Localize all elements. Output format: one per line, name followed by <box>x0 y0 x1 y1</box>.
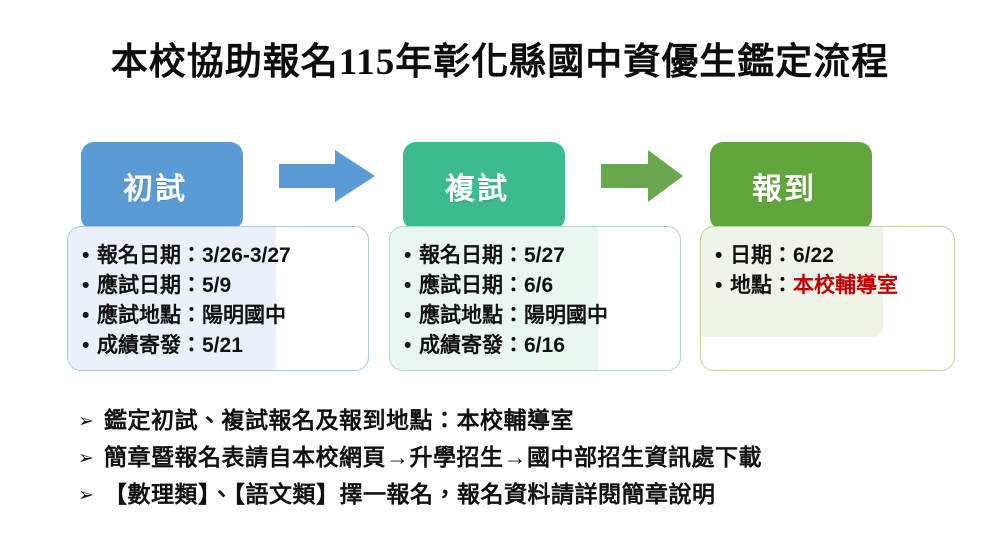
bullet-dot: • <box>404 271 419 301</box>
note-text: 簡章暨報名表請自本校網頁→升學招生→國中部招生資訊處下載 <box>104 441 958 475</box>
list-item: •應試地點：陽明國中 <box>82 301 368 331</box>
flow-step-preliminary-header-label: 初試 <box>81 164 187 208</box>
flow-step-retest-header[interactable]: 複試 <box>403 142 565 230</box>
notes-list: ➢ 鑑定初試、複試報名及報到地點：本校輔導室 ➢ 簡章暨報名表請自本校網頁→升學… <box>78 404 958 515</box>
flow-step-report-header-label: 報到 <box>710 164 816 208</box>
note-text: 【數理類】、【語文類】擇一報名，報名資料請詳閱簡章說明 <box>104 478 958 512</box>
list-item: •應試日期：5/9 <box>82 271 368 301</box>
flow-step-preliminary-list: •報名日期：3/26-3/27 •應試日期：5/9 •應試地點：陽明國中 •成績… <box>68 227 368 361</box>
list-item-text: 應試日期：5/9 <box>97 274 231 297</box>
list-item: •應試日期：6/6 <box>404 271 680 301</box>
list-item-text: 應試地點：陽明國中 <box>419 304 608 327</box>
list-item-text: 報名日期：5/27 <box>419 244 565 267</box>
arrow-right-icon <box>279 150 375 202</box>
bullet-dot: • <box>404 301 419 331</box>
list-item: •成績寄發：5/21 <box>82 331 368 361</box>
arrowhead-bullet-icon: ➢ <box>78 404 104 438</box>
bullet-dot: • <box>82 331 97 361</box>
list-item: •報名日期：3/26-3/27 <box>82 241 368 271</box>
flow-step-report-header[interactable]: 報到 <box>710 142 872 230</box>
list-item-text: 成績寄發：6/16 <box>419 334 565 357</box>
list-item-text: 報名日期：3/26-3/27 <box>97 244 291 267</box>
bullet-dot: • <box>404 331 419 361</box>
slide-canvas: 本校協助報名115年彰化縣國中資優生鑑定流程 初試 •報名日期：3/26-3/2… <box>0 0 1000 559</box>
flow-step-preliminary-header[interactable]: 初試 <box>81 142 243 230</box>
list-item-text: 應試日期：6/6 <box>419 274 553 297</box>
arrowhead-bullet-icon: ➢ <box>78 441 104 475</box>
flow-step-report-list: •日期：6/22 •地點：本校輔導室 <box>701 227 954 301</box>
flow-step-retest-list: •報名日期：5/27 •應試日期：6/6 •應試地點：陽明國中 •成績寄發：6/… <box>390 227 680 361</box>
list-item: •應試地點：陽明國中 <box>404 301 680 331</box>
bullet-dot: • <box>715 271 730 301</box>
bullet-dot: • <box>82 271 97 301</box>
bullet-dot: • <box>82 301 97 331</box>
list-item: •成績寄發：6/16 <box>404 331 680 361</box>
list-item: •日期：6/22 <box>715 241 954 271</box>
page-title: 本校協助報名115年彰化縣國中資優生鑑定流程 <box>0 42 1000 85</box>
list-item-label: 地點： <box>730 274 793 297</box>
note-text: 鑑定初試、複試報名及報到地點：本校輔導室 <box>104 404 958 438</box>
list-item: •報名日期：5/27 <box>404 241 680 271</box>
list-item: •地點：本校輔導室 <box>715 271 954 301</box>
list-item-text: 應試地點：陽明國中 <box>97 304 286 327</box>
note-item: ➢ 鑑定初試、複試報名及報到地點：本校輔導室 <box>78 404 958 441</box>
bullet-dot: • <box>82 241 97 271</box>
bullet-dot: • <box>715 241 730 271</box>
flow-step-preliminary-body: •報名日期：3/26-3/27 •應試日期：5/9 •應試地點：陽明國中 •成績… <box>67 226 369 371</box>
note-item: ➢ 【數理類】、【語文類】擇一報名，報名資料請詳閱簡章說明 <box>78 478 958 515</box>
note-item: ➢ 簡章暨報名表請自本校網頁→升學招生→國中部招生資訊處下載 <box>78 441 958 478</box>
list-item-text: 成績寄發：5/21 <box>97 334 243 357</box>
arrow-right-icon <box>601 150 683 202</box>
flow-step-retest-body: •報名日期：5/27 •應試日期：6/6 •應試地點：陽明國中 •成績寄發：6/… <box>389 226 681 371</box>
bullet-dot: • <box>404 241 419 271</box>
list-item-text: 日期：6/22 <box>730 244 834 267</box>
flow-step-report-body: •日期：6/22 •地點：本校輔導室 <box>700 226 955 371</box>
list-item-highlight-value: 本校輔導室 <box>793 274 898 297</box>
flow-step-retest-header-label: 複試 <box>403 164 509 208</box>
arrowhead-bullet-icon: ➢ <box>78 478 104 512</box>
